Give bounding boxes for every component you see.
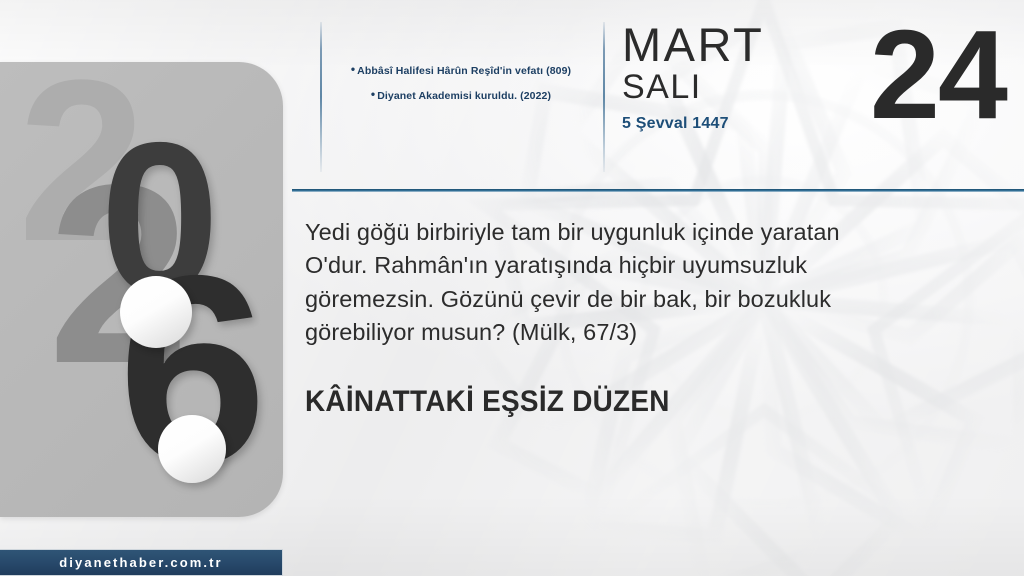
quote-line: O'dur. Rahmân'ın yaratışında hiçbir uyum… bbox=[305, 249, 915, 282]
event-text: Abbâsî Halifesi Hârûn Reşîd'in vefatı (8… bbox=[357, 65, 571, 77]
event-text: Diyanet Akademisi kuruldu. (2022) bbox=[377, 90, 551, 102]
day-number: 24 bbox=[870, 12, 1006, 138]
divider-vertical-right bbox=[603, 22, 605, 172]
website-url-bar[interactable]: diyanethaber.com.tr bbox=[0, 549, 283, 576]
events-list: •Abbâsî Halifesi Hârûn Reşîd'in vefatı (… bbox=[330, 62, 592, 112]
logo-sphere-upper bbox=[120, 276, 192, 348]
headline-title: KÂİNATTAKİ EŞSİZ DÜZEN bbox=[305, 385, 670, 419]
weekday-label: SALI bbox=[622, 70, 832, 106]
quote-line: görebiliyor musun? (Mülk, 67/3) bbox=[305, 316, 915, 349]
divider-horizontal bbox=[292, 189, 1024, 192]
quote-line: göremezsin. Gözünü çevir de bir bak, bir… bbox=[305, 283, 915, 316]
event-item: •Abbâsî Halifesi Hârûn Reşîd'in vefatı (… bbox=[330, 62, 592, 78]
bullet-icon: • bbox=[351, 62, 355, 76]
date-column: MART SALI 5 Şevval 1447 bbox=[622, 22, 832, 133]
year-logo-panel: 2 2 0 6 bbox=[0, 62, 283, 517]
quote-line: Yedi göğü birbiriyle tam bir uygunluk iç… bbox=[305, 216, 915, 249]
calendar-page: 2 2 0 6 •Abbâsî Halifesi Hârûn Reşîd'in … bbox=[0, 0, 1024, 576]
month-label: MART bbox=[622, 22, 832, 68]
quote-text: Yedi göğü birbiriyle tam bir uygunluk iç… bbox=[305, 216, 915, 349]
bullet-icon: • bbox=[371, 87, 375, 101]
event-item: •Diyanet Akademisi kuruldu. (2022) bbox=[330, 87, 592, 103]
hijri-date-label: 5 Şevval 1447 bbox=[622, 115, 832, 133]
logo-sphere-lower bbox=[158, 415, 226, 483]
website-url-text: diyanethaber.com.tr bbox=[59, 555, 222, 570]
year-2026-logo-icon: 2 2 0 6 bbox=[0, 62, 283, 517]
divider-vertical-left bbox=[320, 22, 322, 172]
